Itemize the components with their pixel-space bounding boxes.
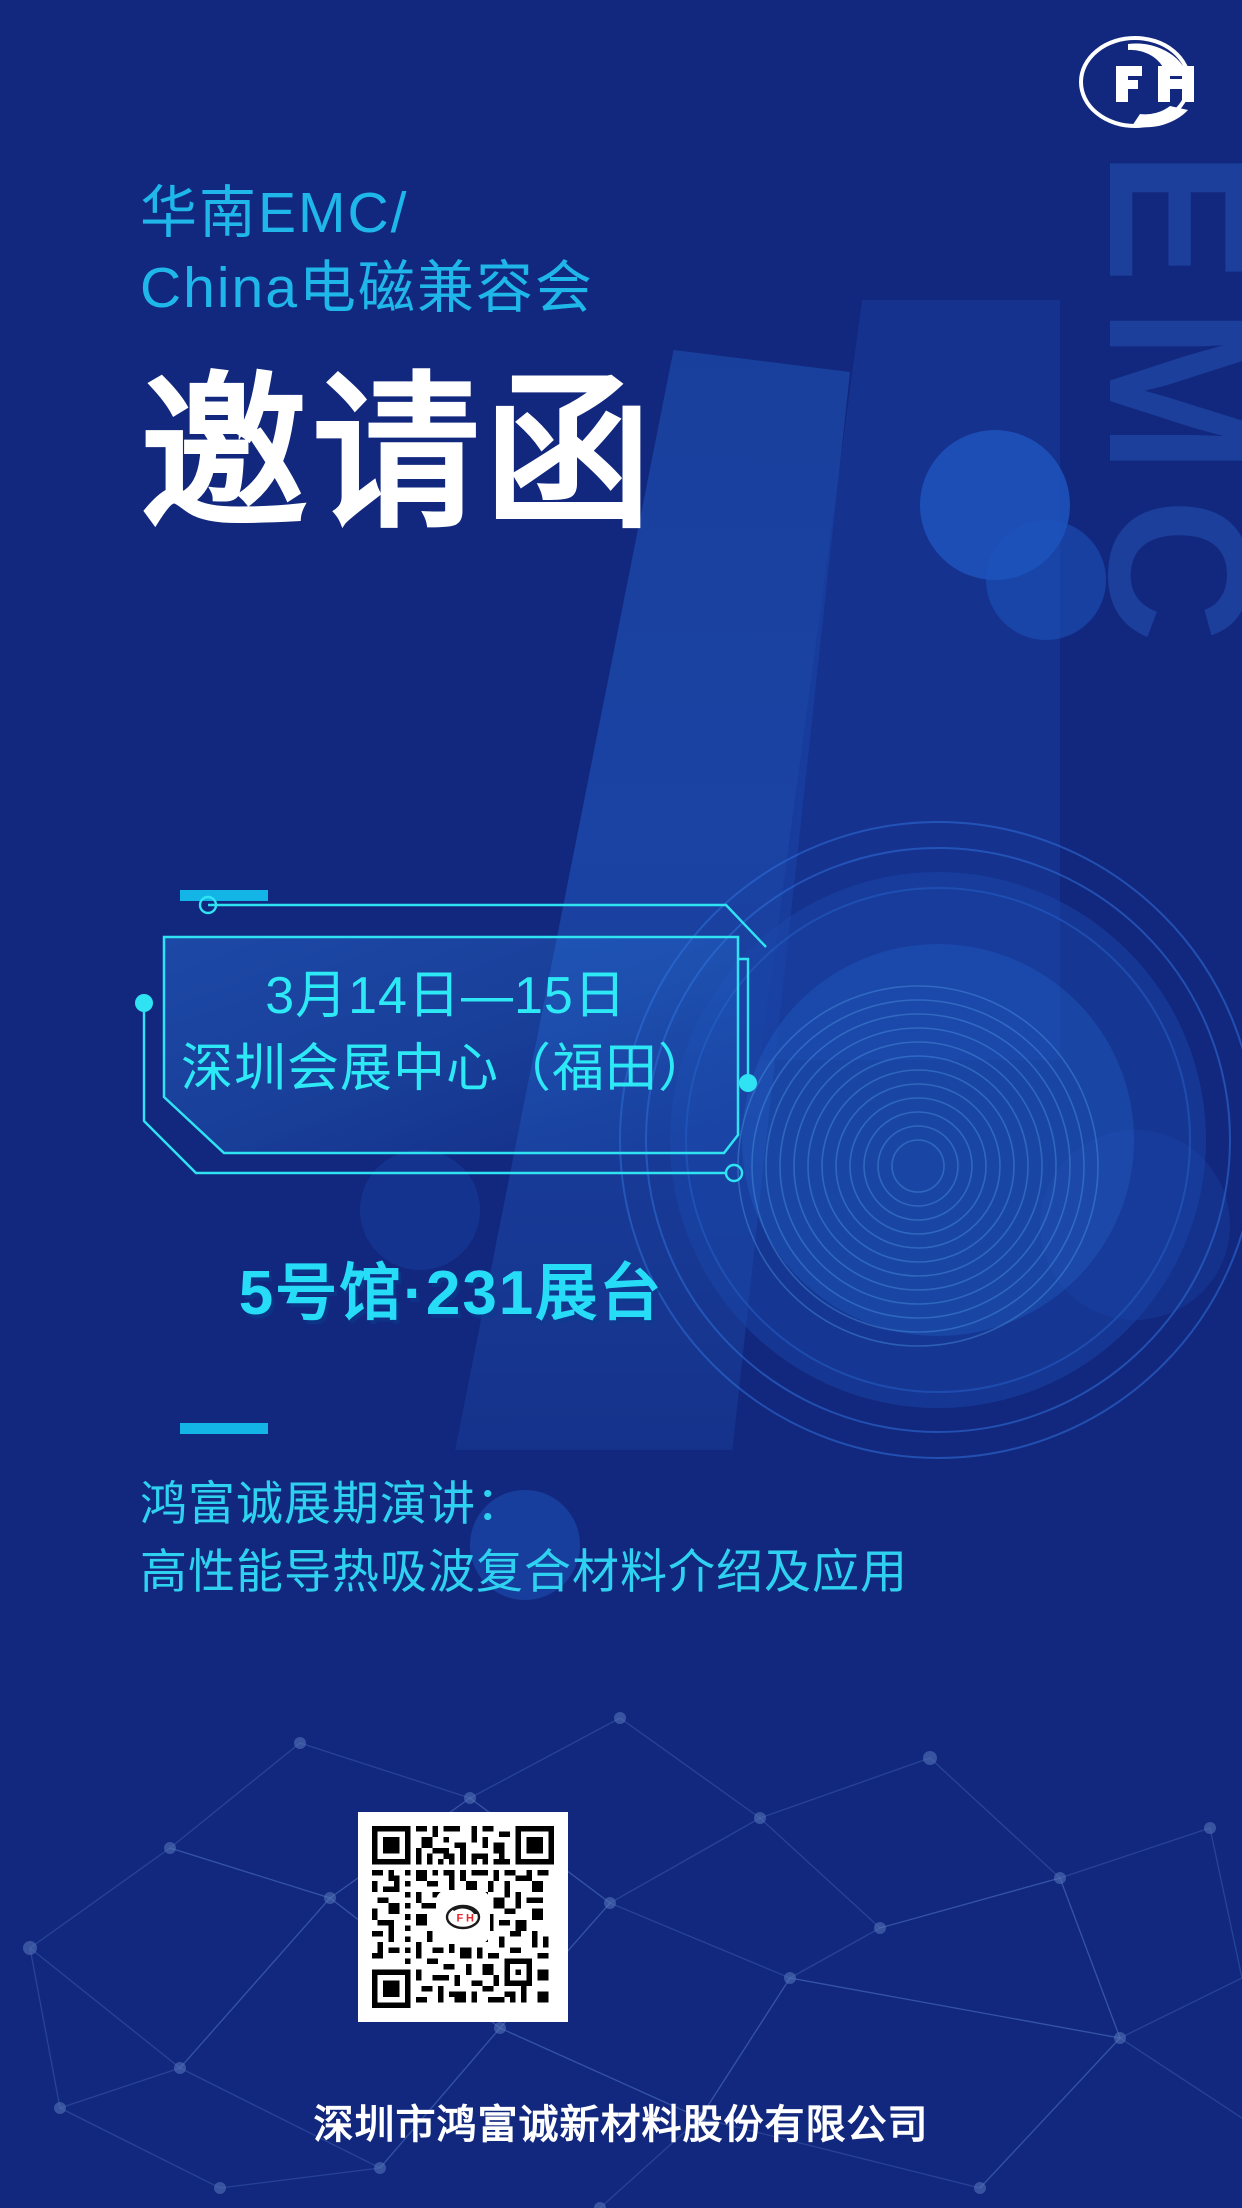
booth-number: 5号馆·231展台 xyxy=(146,1242,756,1332)
svg-text:F: F xyxy=(457,1913,464,1925)
talk-accent-bar xyxy=(180,1423,268,1434)
wechat-qr-code[interactable]: F H xyxy=(358,1812,568,2022)
event-title: 华南EMC/ China电磁兼容会 xyxy=(140,176,594,326)
poster-content: 华南EMC/ China电磁兼容会 邀请函 xyxy=(0,0,1242,2208)
company-name: 深圳市鸿富诚新材料股份有限公司 xyxy=(0,2092,1242,2150)
talk-info: 鸿富诚展期演讲： 高性能导热吸波复合材料介绍及应用 xyxy=(140,1470,908,1605)
poster-root: EMC xyxy=(0,0,1242,2208)
qr-center-fh-logo-icon: F H xyxy=(438,1892,488,1942)
svg-text:H: H xyxy=(466,1913,474,1925)
page-title: 邀请函 xyxy=(140,366,656,542)
date-and-venue: 3月14日—15日 深圳会展中心（福田） xyxy=(146,960,746,1106)
date-accent-bar xyxy=(180,890,268,901)
